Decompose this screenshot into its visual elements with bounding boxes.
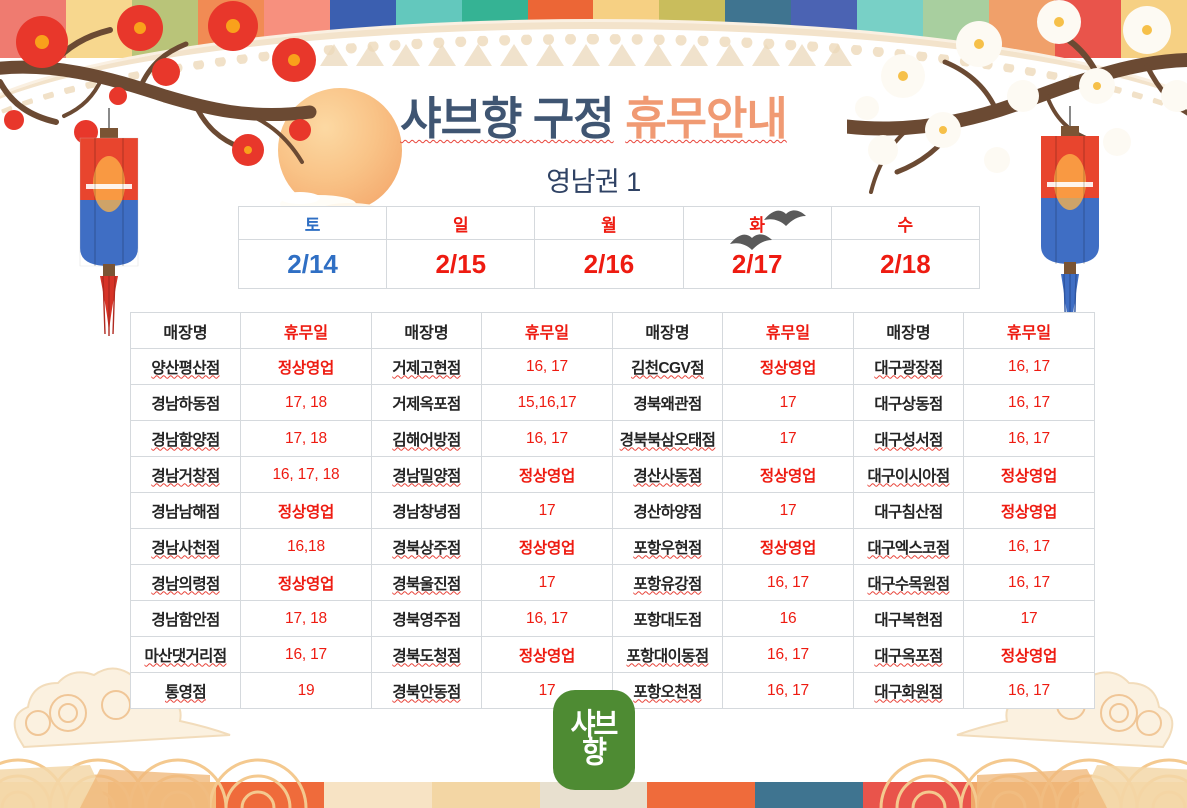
table-row: 경남사천점16,18경북상주점정상영업포항우현점정상영업대구엑스코점16, 17	[131, 529, 1095, 565]
store-name-text: 포항대도점	[633, 612, 701, 629]
holiday-value-cell: 정상영업	[482, 529, 613, 565]
table-row: 경남함양점17, 18김해어방점16, 17경북북삼오태점17대구성서점16, …	[131, 421, 1095, 457]
brand-logo: 샤브 향	[553, 690, 635, 790]
store-name-cell: 대구옥포점	[854, 637, 964, 673]
table-row: 경남하동점17, 18거제옥포점15,16,17경북왜관점17대구상동점16, …	[131, 385, 1095, 421]
bottom-stripe-7	[755, 782, 863, 808]
holiday-value-cell: 정상영업	[482, 637, 613, 673]
store-name-text: 경산사동점	[633, 468, 701, 485]
store-name-text: 대구성서점	[874, 432, 942, 449]
store-name-cell: 포항유강점	[613, 565, 723, 601]
store-name-cell: 거제고현점	[372, 349, 482, 385]
store-name-cell: 경남의령점	[131, 565, 241, 601]
holiday-value-cell: 정상영업	[723, 457, 854, 493]
store-name-cell: 경북왜관점	[613, 385, 723, 421]
store-name-cell: 대구침산점	[854, 493, 964, 529]
store-name-cell: 경북울진점	[372, 565, 482, 601]
date-value-0: 2/14	[239, 240, 387, 289]
store-name-text: 포항오천점	[633, 684, 701, 701]
store-name-cell: 경북북삼오태점	[613, 421, 723, 457]
holiday-value-cell: 17	[482, 493, 613, 529]
store-name-text: 경산하양점	[633, 504, 701, 521]
store-name-cell: 대구이시아점	[854, 457, 964, 493]
store-name-text: 포항대이동점	[627, 648, 709, 665]
brand-logo-text: 샤브 향	[571, 712, 617, 768]
date-dow-2: 월	[535, 207, 683, 240]
store-name-cell: 대구화원점	[854, 673, 964, 709]
bottom-stripe-6	[647, 782, 755, 808]
holiday-value-cell: 16, 17	[723, 673, 854, 709]
store-name-cell: 경남하동점	[131, 385, 241, 421]
holiday-value-cell: 정상영업	[964, 493, 1095, 529]
store-name-text: 경북북삼오태점	[620, 432, 716, 449]
store-name-text: 김해어방점	[392, 432, 460, 449]
holiday-value-cell: 17	[964, 601, 1095, 637]
date-dow-4: 수	[831, 207, 979, 240]
store-name-text: 대구복현점	[874, 612, 942, 629]
holiday-value-cell: 16, 17	[482, 601, 613, 637]
holiday-value-cell: 16	[723, 601, 854, 637]
holiday-value-cell: 15,16,17	[482, 385, 613, 421]
page-title: 샤브향 구정 휴무안내	[0, 95, 1187, 142]
store-name-text: 대구수목원점	[868, 576, 950, 593]
store-name-cell: 포항우현점	[613, 529, 723, 565]
store-name-cell: 경남거창점	[131, 457, 241, 493]
store-name-cell: 경북도청점	[372, 637, 482, 673]
holiday-value-cell: 정상영업	[723, 349, 854, 385]
store-name-cell: 경남남해점	[131, 493, 241, 529]
store-name-text: 경북안동점	[392, 684, 460, 701]
table-row: 양산평산점정상영업거제고현점16, 17김천CGV점정상영업대구광장점16, 1…	[131, 349, 1095, 385]
holiday-value-cell: 정상영업	[482, 457, 613, 493]
store-name-text: 대구상동점	[874, 396, 942, 413]
store-name-text: 포항우현점	[633, 540, 701, 557]
holiday-value-cell: 16, 17	[964, 385, 1095, 421]
store-col-header-3: 휴무일	[482, 313, 613, 349]
date-dow-row: 토일월화수	[239, 207, 980, 240]
store-name-cell: 양산평산점	[131, 349, 241, 385]
store-name-cell: 경남함안점	[131, 601, 241, 637]
store-col-header-4: 매장명	[613, 313, 723, 349]
holiday-value-cell: 17, 18	[241, 385, 372, 421]
holiday-value-cell: 16, 17	[482, 421, 613, 457]
store-name-cell: 마산댓거리점	[131, 637, 241, 673]
store-name-cell: 대구상동점	[854, 385, 964, 421]
date-value-2: 2/16	[535, 240, 683, 289]
lantern-left	[70, 108, 148, 343]
store-col-header-5: 휴무일	[723, 313, 854, 349]
store-name-text: 대구광장점	[874, 360, 942, 377]
holiday-value-cell: 정상영업	[241, 565, 372, 601]
store-col-header-1: 휴무일	[241, 313, 372, 349]
store-name-cell: 경남함양점	[131, 421, 241, 457]
store-name-text: 경북상주점	[392, 540, 460, 557]
date-value-1: 2/15	[387, 240, 535, 289]
store-name-cell: 경남창녕점	[372, 493, 482, 529]
bottom-stripe-3	[324, 782, 432, 808]
date-value-4: 2/18	[831, 240, 979, 289]
store-name-cell: 김해어방점	[372, 421, 482, 457]
top-triangle-pattern	[320, 44, 880, 66]
store-name-text: 경북도청점	[392, 648, 460, 665]
holiday-value-cell: 정상영업	[723, 529, 854, 565]
holiday-value-cell: 17, 18	[241, 421, 372, 457]
store-name-cell: 포항대이동점	[613, 637, 723, 673]
store-col-header-0: 매장명	[131, 313, 241, 349]
store-name-text: 경남밀양점	[392, 468, 460, 485]
bird-icon-1	[762, 206, 808, 232]
holiday-value-cell: 17	[723, 385, 854, 421]
holiday-value-cell: 16, 17	[964, 529, 1095, 565]
date-header-table: 토일월화수 2/142/152/162/172/18	[238, 206, 980, 289]
holiday-value-cell: 정상영업	[241, 349, 372, 385]
holiday-value-cell: 16,18	[241, 529, 372, 565]
store-name-text: 경남남해점	[151, 504, 219, 521]
store-name-text: 마산댓거리점	[145, 648, 227, 665]
store-col-header-2: 매장명	[372, 313, 482, 349]
store-name-cell: 경남사천점	[131, 529, 241, 565]
date-dow-1: 일	[387, 207, 535, 240]
holiday-value-cell: 16, 17	[964, 565, 1095, 601]
holiday-value-cell: 17	[723, 421, 854, 457]
store-name-text: 경남함안점	[151, 612, 219, 629]
store-name-cell: 경남밀양점	[372, 457, 482, 493]
store-name-cell: 대구성서점	[854, 421, 964, 457]
store-col-header-7: 휴무일	[964, 313, 1095, 349]
table-row: 경남함안점17, 18경북영주점16, 17포항대도점16대구복현점17	[131, 601, 1095, 637]
store-holiday-table: 매장명휴무일매장명휴무일매장명휴무일매장명휴무일 양산평산점정상영업거제고현점1…	[130, 312, 1095, 709]
table-row: 마산댓거리점16, 17경북도청점정상영업포항대이동점16, 17대구옥포점정상…	[131, 637, 1095, 673]
store-name-text: 포항유강점	[633, 576, 701, 593]
store-table-body: 양산평산점정상영업거제고현점16, 17김천CGV점정상영업대구광장점16, 1…	[131, 349, 1095, 709]
store-col-header-6: 매장명	[854, 313, 964, 349]
store-name-cell: 대구광장점	[854, 349, 964, 385]
table-row: 경남거창점16, 17, 18경남밀양점정상영업경산사동점정상영업대구이시아점정…	[131, 457, 1095, 493]
store-name-text: 김천CGV점	[631, 360, 704, 377]
store-name-text: 대구화원점	[874, 684, 942, 701]
store-name-cell: 거제옥포점	[372, 385, 482, 421]
store-name-text: 통영점	[165, 684, 206, 701]
store-name-cell: 경산하양점	[613, 493, 723, 529]
store-name-text: 경북울진점	[392, 576, 460, 593]
holiday-value-cell: 16, 17, 18	[241, 457, 372, 493]
holiday-value-cell: 정상영업	[241, 493, 372, 529]
store-name-text: 경남하동점	[151, 396, 219, 413]
store-name-text: 경북영주점	[392, 612, 460, 629]
holiday-value-cell: 19	[241, 673, 372, 709]
holiday-value-cell: 정상영업	[964, 457, 1095, 493]
store-name-cell: 대구수목원점	[854, 565, 964, 601]
title-highlight: 휴무안내	[625, 95, 787, 142]
holiday-value-cell: 정상영업	[964, 637, 1095, 673]
holiday-value-cell: 16, 17	[723, 565, 854, 601]
store-name-text: 거제고현점	[392, 360, 460, 377]
store-name-text: 경남거창점	[151, 468, 219, 485]
logo-line-2: 향	[582, 736, 605, 771]
store-name-text: 대구엑스코점	[868, 540, 950, 557]
store-name-cell: 포항대도점	[613, 601, 723, 637]
store-name-text: 경남창녕점	[392, 504, 460, 521]
holiday-value-cell: 16, 17	[723, 637, 854, 673]
holiday-value-cell: 17	[482, 565, 613, 601]
table-row: 경남의령점정상영업경북울진점17포항유강점16, 17대구수목원점16, 17	[131, 565, 1095, 601]
store-name-text: 대구이시아점	[868, 468, 950, 485]
store-name-cell: 경산사동점	[613, 457, 723, 493]
store-name-cell: 경북안동점	[372, 673, 482, 709]
holiday-value-cell: 17, 18	[241, 601, 372, 637]
table-row: 경남남해점정상영업경남창녕점17경산하양점17대구침산점정상영업	[131, 493, 1095, 529]
store-name-text: 대구침산점	[874, 504, 942, 521]
holiday-value-cell: 16, 17	[964, 673, 1095, 709]
store-name-text: 경남의령점	[151, 576, 219, 593]
store-table-header-row: 매장명휴무일매장명휴무일매장명휴무일매장명휴무일	[131, 313, 1095, 349]
store-name-text: 경북왜관점	[633, 396, 701, 413]
holiday-value-cell: 17	[723, 493, 854, 529]
page-subtitle: 영남권 1	[0, 160, 1187, 199]
store-name-cell: 경북상주점	[372, 529, 482, 565]
date-num-row: 2/142/152/162/172/18	[239, 240, 980, 289]
poster-canvas: 샤브향 구정 휴무안내 영남권 1 토일월화수 2/142/152/162/17…	[0, 0, 1187, 808]
date-dow-0: 토	[239, 207, 387, 240]
store-name-cell: 통영점	[131, 673, 241, 709]
store-name-cell: 경북영주점	[372, 601, 482, 637]
holiday-value-cell: 16, 17	[482, 349, 613, 385]
store-name-text: 경남함양점	[151, 432, 219, 449]
store-name-text: 거제옥포점	[392, 396, 460, 413]
store-name-cell: 대구복현점	[854, 601, 964, 637]
store-name-text: 경남사천점	[151, 540, 219, 557]
holiday-value-cell: 16, 17	[964, 349, 1095, 385]
holiday-value-cell: 16, 17	[241, 637, 372, 673]
store-name-text: 대구옥포점	[874, 648, 942, 665]
bottom-stripe-4	[432, 782, 540, 808]
bird-icon-2	[728, 232, 774, 258]
title-main: 샤브향 구정	[400, 95, 614, 142]
store-name-cell: 대구엑스코점	[854, 529, 964, 565]
store-name-cell: 김천CGV점	[613, 349, 723, 385]
store-name-text: 양산평산점	[151, 360, 219, 377]
holiday-value-cell: 16, 17	[964, 421, 1095, 457]
